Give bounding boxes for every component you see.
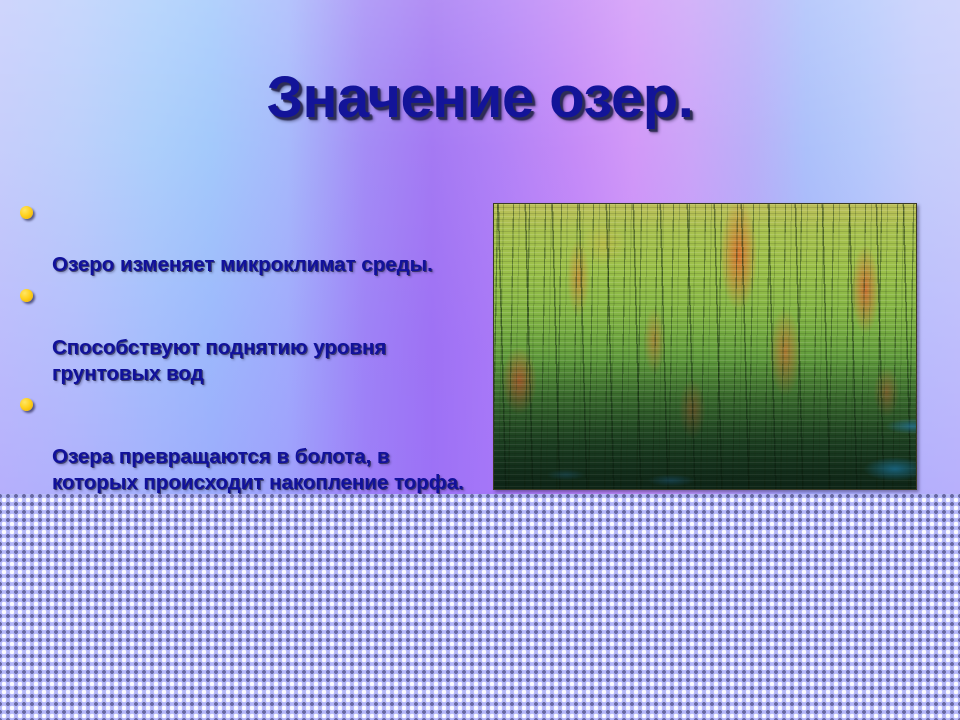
photo-layer-shadow — [494, 204, 916, 489]
gold-dot-bullet-icon — [20, 289, 33, 302]
bullet-item-1: Озеро изменяет микроклимат среды. — [8, 200, 478, 278]
bullet-text-1: Озеро изменяет микроклимат среды. — [52, 253, 433, 276]
slide-viewer: Значение озер. Озеро изменяет микроклима… — [0, 0, 960, 720]
lake-reeds-photo[interactable] — [493, 203, 917, 490]
bullet-list: Озеро изменяет микроклимат среды. Способ… — [8, 200, 478, 494]
gold-dot-bullet-icon — [20, 206, 33, 219]
bullet-text-3: Озера превращаются в болота, в которых п… — [52, 445, 464, 494]
presentation-slide[interactable]: Значение озер. Озеро изменяет микроклима… — [0, 0, 960, 494]
gold-dot-bullet-icon — [20, 398, 33, 411]
slide-title: Значение озер. — [0, 64, 960, 131]
bullet-item-3: Озера превращаются в болота, в которых п… — [8, 392, 478, 494]
bullet-text-2: Способствуют поднятию уровня грунтовых в… — [52, 336, 386, 385]
bullet-item-2: Способствуют поднятию уровня грунтовых в… — [8, 283, 478, 387]
